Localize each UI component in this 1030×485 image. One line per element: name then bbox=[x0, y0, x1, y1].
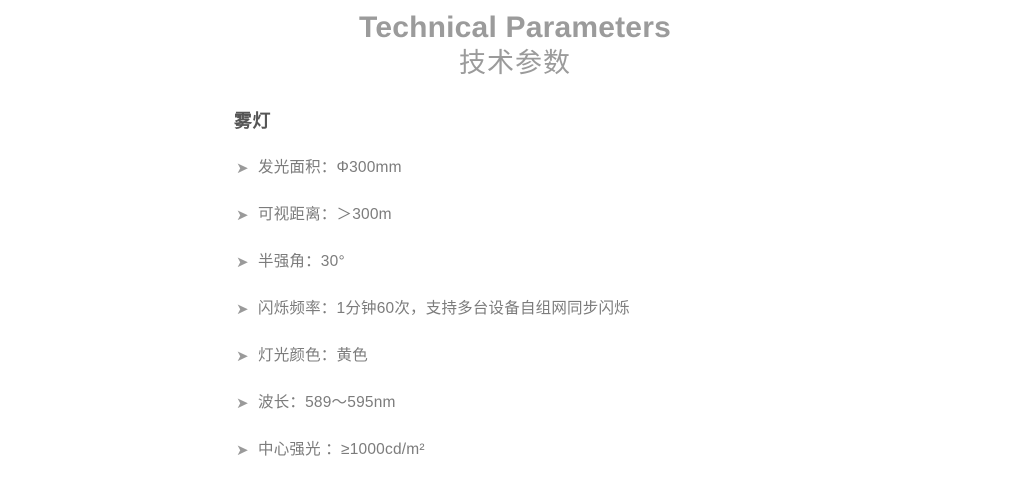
spec-text: 发光面积：Φ300mm bbox=[258, 156, 402, 180]
arrow-bullet-icon: ➤ bbox=[236, 300, 254, 318]
arrow-bullet-icon: ➤ bbox=[236, 206, 254, 224]
document-page: Technical Parameters 技术参数 雾灯 ➤ 发光面积：Φ300… bbox=[0, 0, 1030, 485]
spec-text: 灯光颜色：黄色 bbox=[258, 344, 368, 368]
list-item: ➤ 闪烁频率：1分钟60次，支持多台设备自组网同步闪烁 bbox=[234, 297, 994, 344]
list-item: ➤ 波长：589～595nm bbox=[234, 391, 994, 438]
arrow-bullet-icon: ➤ bbox=[236, 347, 254, 365]
spec-text: 闪烁频率：1分钟60次，支持多台设备自组网同步闪烁 bbox=[258, 297, 630, 321]
list-item: ➤ 发光面积：Φ300mm bbox=[234, 156, 994, 203]
list-item: ➤ 半强角：30° bbox=[234, 250, 994, 297]
arrow-bullet-icon: ➤ bbox=[236, 441, 254, 459]
spec-text: 可视距离：＞300m bbox=[258, 203, 392, 227]
list-item: ➤ 中心强光 ：≥1000cd/m² bbox=[234, 438, 994, 485]
page-title-english: Technical Parameters bbox=[0, 10, 1030, 46]
list-item: ➤ 灯光颜色：黄色 bbox=[234, 344, 994, 391]
section-heading-fog-light: 雾灯 bbox=[234, 108, 271, 134]
page-title-block: Technical Parameters 技术参数 bbox=[0, 10, 1030, 80]
spec-list: ➤ 发光面积：Φ300mm ➤ 可视距离：＞300m ➤ 半强角：30° ➤ 闪… bbox=[234, 156, 994, 485]
arrow-bullet-icon: ➤ bbox=[236, 159, 254, 177]
spec-text: 半强角：30° bbox=[258, 250, 345, 274]
spec-text: 中心强光 ：≥1000cd/m² bbox=[258, 438, 425, 462]
arrow-bullet-icon: ➤ bbox=[236, 394, 254, 412]
list-item: ➤ 可视距离：＞300m bbox=[234, 203, 994, 250]
spec-text: 波长：589～595nm bbox=[258, 391, 396, 415]
page-title-chinese: 技术参数 bbox=[0, 46, 1030, 80]
arrow-bullet-icon: ➤ bbox=[236, 253, 254, 271]
